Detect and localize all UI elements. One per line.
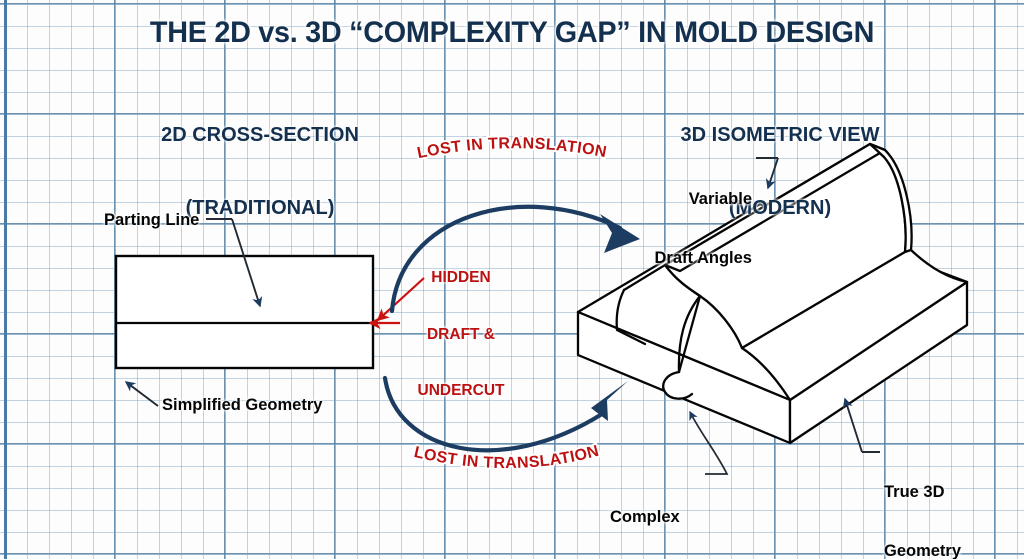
label-hidden-line2: DRAFT & [406, 326, 516, 345]
2d-cross-section-drawing [116, 256, 373, 368]
label-variable-line2: Draft Angles [612, 249, 752, 269]
simplified-geometry-leader [126, 382, 158, 406]
page-title: THE 2D vs. 3D “COMPLEXITY GAP” IN MOLD D… [20, 16, 1003, 50]
column-heading-3d-line1: 3D ISOMETRIC VIEW [580, 123, 980, 147]
label-true3d-line2: Geometry [884, 542, 961, 559]
true-3d-leader [845, 399, 880, 452]
cross-section-rectangle [116, 256, 373, 368]
column-heading-2d: 2D CROSS-SECTION (TRADITIONAL) [60, 74, 460, 269]
diagram-canvas: LOST IN TRANSLATION LOST IN TRANSLATION … [0, 0, 1024, 559]
label-hidden-line3: UNDERCUT [406, 382, 516, 401]
label-true-3d-geometry: True 3D Geometry [884, 443, 961, 559]
label-variable-line1: Variable [612, 190, 752, 210]
label-true3d-line1: True 3D [884, 483, 961, 503]
complex-undercut-leader [690, 412, 727, 474]
column-heading-2d-line1: 2D CROSS-SECTION [60, 123, 460, 147]
label-simplified-geometry: Simplified Geometry [162, 396, 322, 416]
label-hidden-line1: HIDDEN [406, 269, 516, 288]
label-parting-line: Parting Line [104, 211, 199, 231]
label-variable-draft-angles: Variable Draft Angles [612, 150, 752, 308]
label-complex-undercut-feature: Complex Undercut Feature [610, 468, 682, 559]
label-complex-line1: Complex [610, 508, 682, 528]
label-hidden-draft-undercut: HIDDEN DRAFT & UNDERCUT [406, 231, 516, 439]
